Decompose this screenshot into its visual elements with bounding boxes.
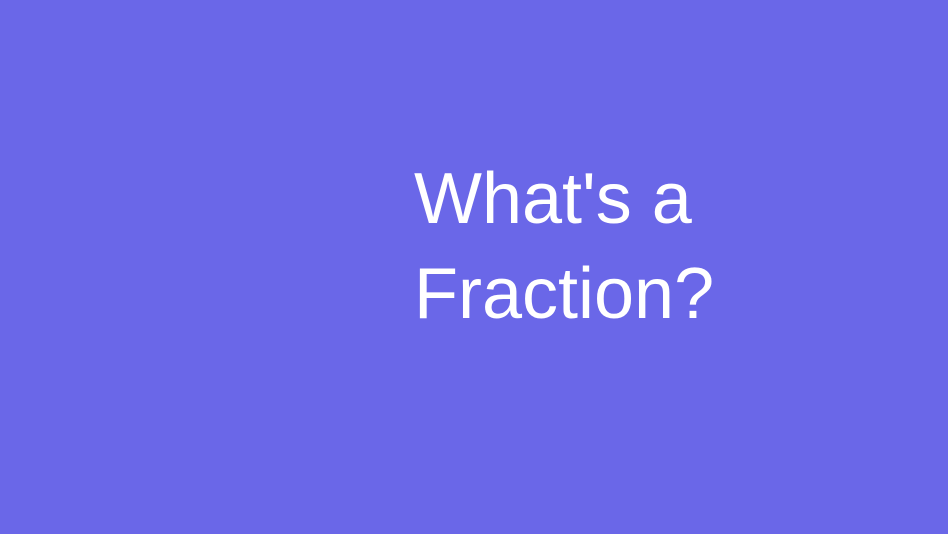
- title-block: What's a Fraction?: [414, 152, 714, 342]
- page-title: What's a Fraction?: [414, 152, 714, 342]
- slide-canvas: What's a Fraction?: [0, 0, 948, 534]
